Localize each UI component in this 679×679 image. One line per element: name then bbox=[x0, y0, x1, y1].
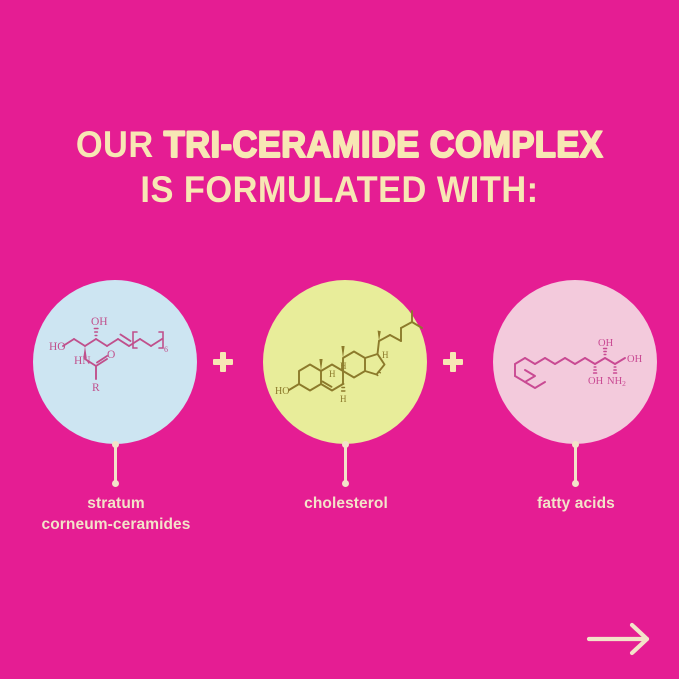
atom-label-oh: OH bbox=[91, 316, 108, 328]
atom-label-h-1: H bbox=[329, 369, 336, 379]
headline-tri-ceramide-complex: TRI-CERAMIDE COMPLEX bbox=[164, 124, 603, 165]
next-slide-button[interactable] bbox=[586, 622, 654, 656]
ceramide-structure-icon: HO OH HN O R 6 bbox=[33, 280, 197, 444]
headline-line-2: IS FORMULATED WITH: bbox=[24, 171, 655, 208]
headline-space bbox=[154, 124, 164, 165]
arrow-right-icon bbox=[586, 622, 654, 656]
ingredient-label-ceramide-line1: stratum bbox=[0, 494, 246, 515]
atom-label-oh-top: OH bbox=[598, 338, 614, 349]
headline-block: OUR TRI-CERAMIDE COMPLEX IS FORMULATED W… bbox=[0, 126, 679, 208]
phytosphingosine-structure-icon: OH OH NH2 OH bbox=[493, 280, 657, 444]
atom-label-subscript-6: 6 bbox=[164, 345, 168, 354]
headline-our-word: OUR bbox=[76, 124, 154, 165]
connector-line-fatty-acids bbox=[574, 444, 577, 484]
ingredient-label-fatty-acids: fatty acids bbox=[446, 494, 679, 515]
atom-label-h-2: H bbox=[340, 361, 347, 371]
ingredient-circle-cholesterol[interactable]: HO H H H H bbox=[263, 280, 427, 444]
atom-label-o: O bbox=[107, 349, 115, 361]
ingredient-infographic-slide: OUR TRI-CERAMIDE COMPLEX IS FORMULATED W… bbox=[0, 0, 679, 679]
atom-label-ho-chol: HO bbox=[275, 386, 289, 397]
plus-operator-1 bbox=[213, 352, 233, 372]
ingredient-label-ceramide-line2: corneum-ceramides bbox=[0, 515, 246, 536]
ingredient-row: HO OH HN O R 6 bbox=[0, 280, 679, 444]
atom-label-oh-bottom: OH bbox=[588, 376, 604, 387]
atom-label-r: R bbox=[92, 382, 100, 394]
connector-line-cholesterol bbox=[344, 444, 347, 484]
atom-label-oh-terminal: OH bbox=[627, 354, 643, 365]
atom-label-ho: HO bbox=[49, 341, 66, 353]
ingredient-label-cholesterol-line1: cholesterol bbox=[216, 494, 476, 515]
plus-operator-2 bbox=[443, 352, 463, 372]
ingredient-label-fatty-acids-line1: fatty acids bbox=[446, 494, 679, 515]
ingredient-circle-fatty-acids[interactable]: OH OH NH2 OH bbox=[493, 280, 657, 444]
connector-line-ceramide bbox=[114, 444, 117, 484]
atom-label-h-4: H bbox=[382, 350, 389, 360]
atom-label-h-3: H bbox=[340, 394, 347, 404]
ingredient-circle-ceramide[interactable]: HO OH HN O R 6 bbox=[33, 280, 197, 444]
atom-label-nh2: NH2 bbox=[607, 376, 626, 388]
ingredient-label-ceramide: stratum corneum-ceramides bbox=[0, 494, 246, 536]
ingredient-label-cholesterol: cholesterol bbox=[216, 494, 476, 515]
cholesterol-structure-icon: HO H H H H bbox=[263, 280, 427, 444]
headline-line-1: OUR TRI-CERAMIDE COMPLEX bbox=[24, 126, 655, 163]
atom-label-hn: HN bbox=[74, 355, 91, 367]
